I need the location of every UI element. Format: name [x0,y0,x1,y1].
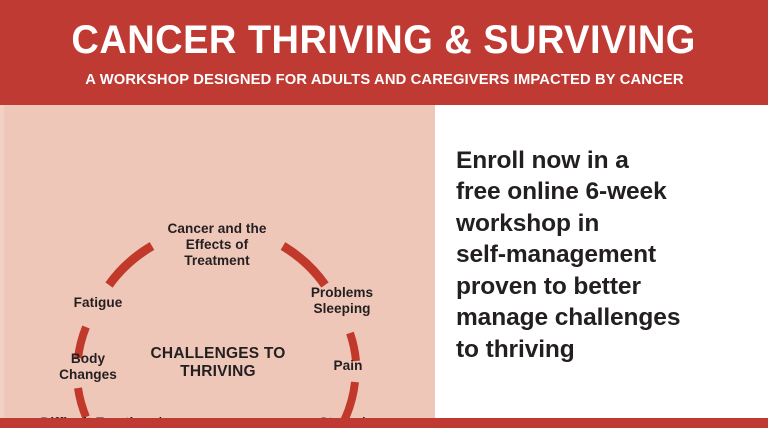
diagram-panel: CHALLENGES TO THRIVING Cancer and the Ef… [0,105,435,418]
diagram-center-label: CHALLENGES TO THRIVING [118,345,318,382]
page-subtitle: A WORKSHOP DESIGNED FOR ADULTS AND CAREG… [85,72,683,87]
poster-body: CHALLENGES TO THRIVING Cancer and the Ef… [0,105,768,418]
promo-line-1: Enroll now in a [456,145,756,176]
node-line-3: Treatment [137,253,297,269]
node-line-1: Fatigue [54,295,142,311]
node-line-1: Problems [289,285,395,301]
diagram-node-body-changes: Body Changes [38,351,138,383]
poster-canvas: CANCER THRIVING & SURVIVING A WORKSHOP D… [0,0,768,428]
promo-line-3: workshop in [456,208,756,239]
node-line-2: Sleeping [289,301,395,317]
promo-line-4: self-management [456,239,756,270]
challenges-cycle-diagram: CHALLENGES TO THRIVING Cancer and the Ef… [0,105,435,418]
node-line-1: Pain [310,358,386,374]
center-label-line-1: CHALLENGES TO [118,345,318,363]
node-line-2: Changes [38,367,138,383]
node-line-2: Effects of [137,237,297,253]
node-line-1: Body [38,351,138,367]
promo-panel: Enroll now in a free online 6-week works… [435,105,768,418]
footer-bar [0,418,768,428]
page-title: CANCER THRIVING & SURVIVING [72,20,696,60]
poster-header: CANCER THRIVING & SURVIVING A WORKSHOP D… [0,0,768,105]
promo-line-2: free online 6-week [456,176,756,207]
diagram-node-cancer-effects: Cancer and the Effects of Treatment [137,221,297,269]
promo-line-5: proven to better [456,271,756,302]
diagram-node-problems-sleeping: Problems Sleeping [289,285,395,317]
diagram-node-pain: Pain [310,358,386,374]
promo-text: Enroll now in a free online 6-week works… [456,145,756,365]
node-line-1: Cancer and the [137,221,297,237]
diagram-node-fatigue: Fatigue [54,295,142,311]
promo-line-6: manage challenges [456,302,756,333]
center-label-line-2: THRIVING [118,363,318,381]
promo-line-7: to thriving [456,334,756,365]
